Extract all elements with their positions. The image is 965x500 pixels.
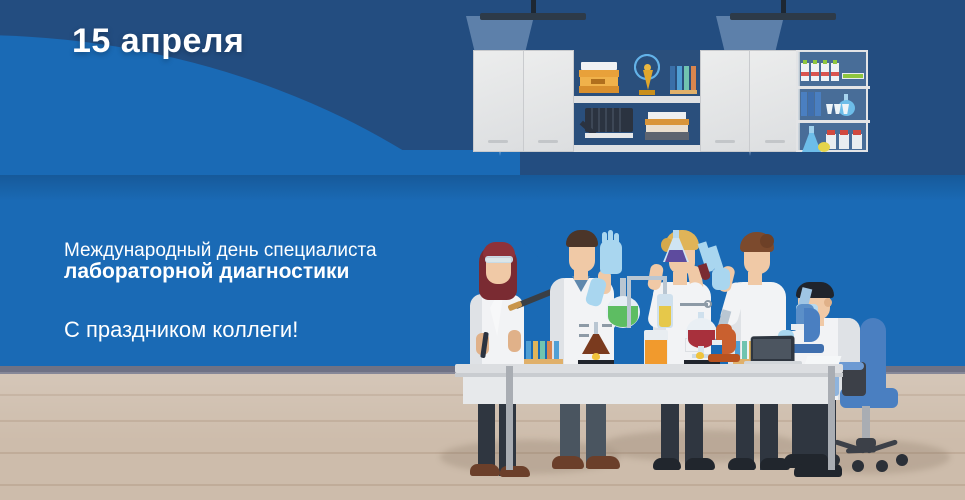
cabinet-handle[interactable] xyxy=(488,140,508,143)
glass-shelf-middle xyxy=(800,90,864,118)
latex-glove xyxy=(600,240,622,274)
headline-regular: Международный день специалиста xyxy=(64,240,377,262)
cabinet-door[interactable] xyxy=(701,51,750,151)
page-title: 15 апреля xyxy=(72,22,244,61)
bench-leg xyxy=(506,366,513,470)
open-shelving-center xyxy=(573,50,701,152)
wall-cabinet-left xyxy=(473,50,574,152)
test-tube-rack-left xyxy=(524,341,564,365)
glass-shelf-bottom xyxy=(800,124,864,152)
cabinet-door[interactable] xyxy=(474,51,524,151)
glove-finger xyxy=(608,230,613,244)
cabinet-handle[interactable] xyxy=(715,140,735,143)
book-stack-orange xyxy=(579,62,619,94)
glass-shelf-divider xyxy=(798,120,870,123)
chair-gas-lift xyxy=(862,406,870,442)
shoe xyxy=(470,464,500,476)
glove-finger xyxy=(614,233,619,245)
office-chair-blue[interactable] xyxy=(840,318,940,478)
shoe xyxy=(586,456,620,469)
burner-flask-brown xyxy=(578,322,614,366)
glove-finger xyxy=(602,232,607,244)
shoe xyxy=(728,458,756,470)
lab-day-banner: 15 апреля Международный день специалиста… xyxy=(0,0,965,500)
hair xyxy=(566,230,598,247)
shoe xyxy=(685,458,715,470)
laptop[interactable] xyxy=(744,336,802,366)
shoe xyxy=(653,458,681,470)
shelf-plank-upper xyxy=(571,96,703,103)
cabinet-door[interactable] xyxy=(524,51,574,151)
gloved-hand xyxy=(712,268,730,290)
shelf-plank-lower xyxy=(571,145,703,152)
hair-bun xyxy=(760,234,774,248)
green-tray xyxy=(842,73,864,79)
lab-bench-body xyxy=(463,377,835,404)
lab-bench-top xyxy=(455,364,843,373)
small-beakers xyxy=(826,104,850,116)
cabinet-door[interactable] xyxy=(750,51,799,151)
reagent-bottles xyxy=(801,60,841,82)
binder-folders xyxy=(801,92,825,116)
test-tubes-held xyxy=(700,242,734,290)
chair-base-leg xyxy=(846,447,876,453)
lamp-shade-left xyxy=(480,13,586,20)
safety-goggles xyxy=(485,256,513,263)
glass-shelf-top xyxy=(800,58,864,84)
flask-clamp xyxy=(680,300,710,310)
headline-bold: лабораторной диагностики xyxy=(64,260,349,284)
book-stack-lower xyxy=(645,112,689,142)
dark-book-row xyxy=(579,106,634,142)
conical-flask-held xyxy=(661,230,693,262)
chair-caster xyxy=(876,460,888,472)
glass-shelf-divider xyxy=(798,86,870,89)
chair-caster xyxy=(852,460,864,472)
petri-dish xyxy=(818,142,830,152)
shoe xyxy=(552,456,584,469)
wall-cabinet-right xyxy=(700,50,800,152)
glass-cabinet-right[interactable] xyxy=(796,50,868,152)
test-tube-rack-shelf xyxy=(670,66,698,96)
chair-caster xyxy=(896,454,908,466)
specimen-jars xyxy=(826,130,864,150)
cabinet-handle[interactable] xyxy=(538,140,558,143)
wall-shadow xyxy=(0,175,965,201)
bench-leg xyxy=(828,366,835,470)
atom-trophy xyxy=(630,54,664,96)
cabinet-handle[interactable] xyxy=(765,140,785,143)
lamp-shade-right xyxy=(730,13,836,20)
arm xyxy=(508,330,521,352)
greeting-text: С праздником коллеги! xyxy=(64,317,298,343)
shoe xyxy=(500,466,530,477)
microscope-orange xyxy=(706,310,742,366)
